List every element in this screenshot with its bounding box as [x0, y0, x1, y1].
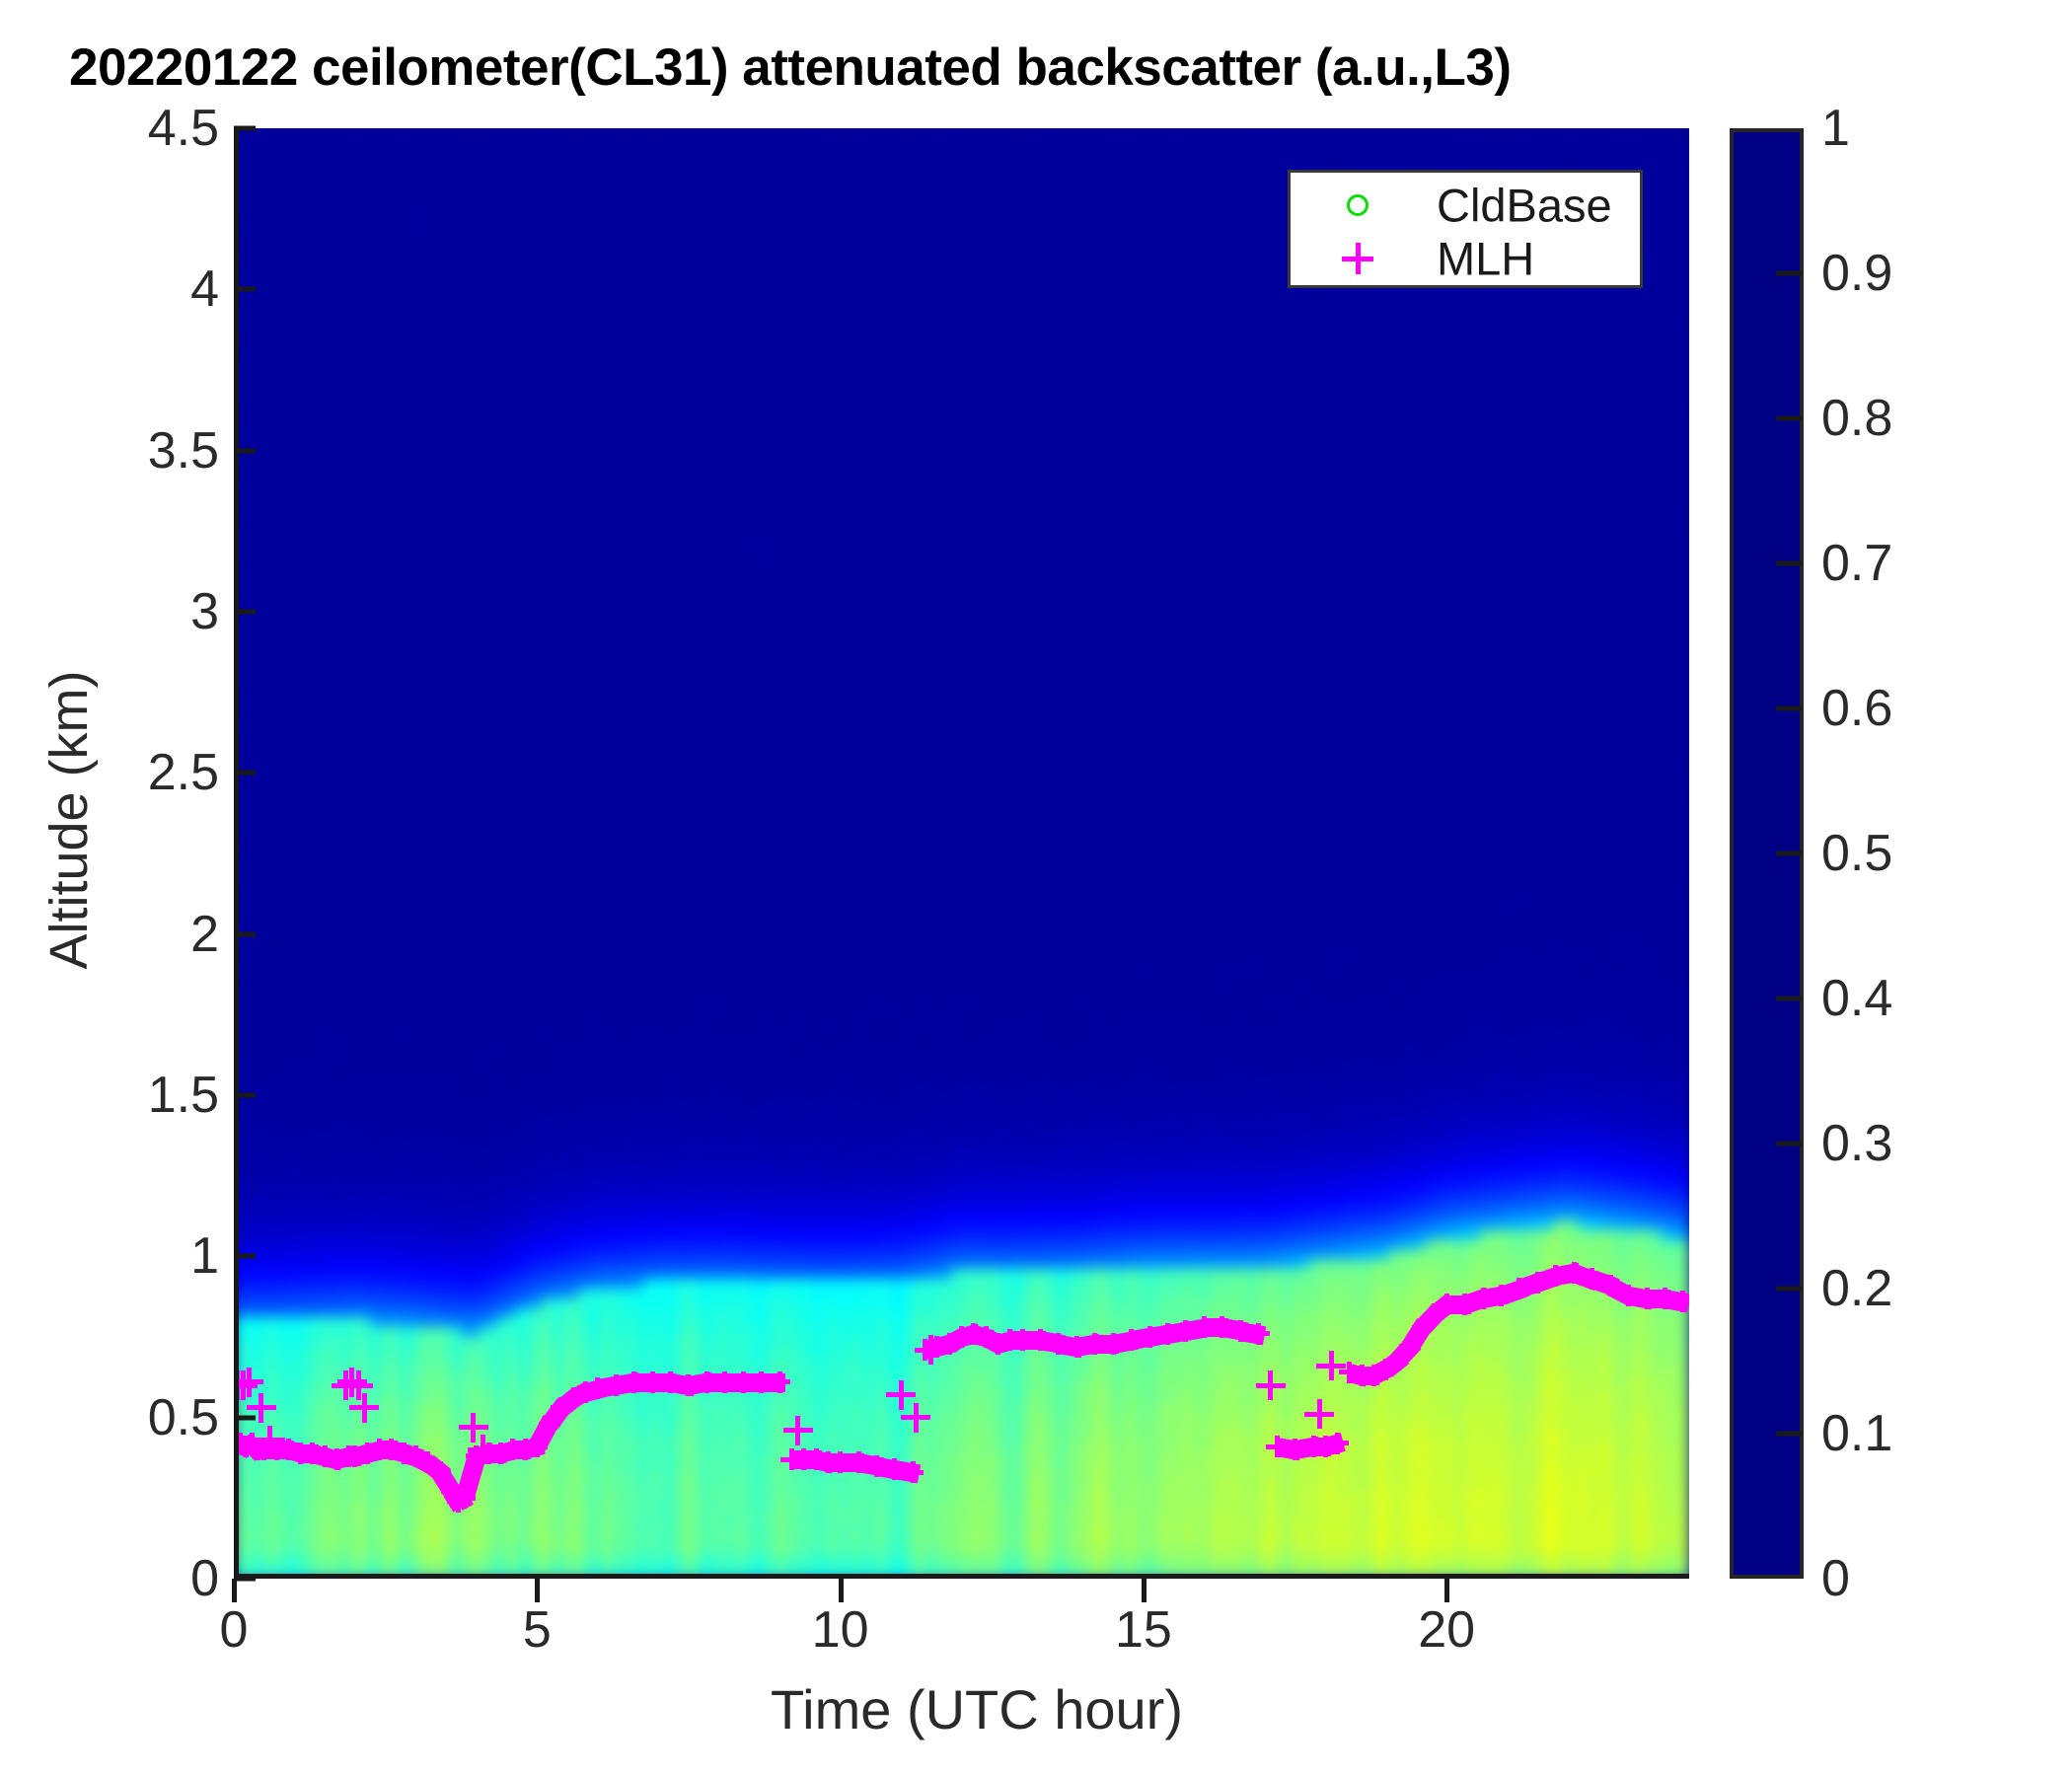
- colorbar-tick-label: 0.4: [1821, 969, 1892, 1028]
- y-axis-tick-mark: [234, 287, 256, 292]
- x-axis-tick-label: 5: [438, 1600, 635, 1660]
- x-axis-tick-mark: [1142, 1579, 1147, 1602]
- colorbar-tick-mark: [1776, 561, 1802, 566]
- colorbar-tick-label: 0.7: [1821, 534, 1892, 593]
- x-axis-tick-label: 15: [1045, 1600, 1242, 1660]
- colorbar-tick-mark: [1776, 1287, 1802, 1292]
- colorbar-tick-mark: [1776, 706, 1802, 711]
- y-axis-tick-label: 1.5: [22, 1066, 219, 1125]
- y-axis-tick-label: 4: [22, 259, 219, 319]
- legend-box[interactable]: CldBase MLH: [1288, 170, 1643, 288]
- x-axis-tick-label: 20: [1348, 1600, 1545, 1660]
- x-axis-tick-mark: [535, 1579, 540, 1602]
- colorbar-tick-label: 0.3: [1821, 1114, 1892, 1173]
- colorbar-tick-label: 0.6: [1821, 679, 1892, 738]
- y-axis-tick-mark: [234, 771, 256, 776]
- circle-marker-icon: [1338, 185, 1377, 225]
- y-axis-label: Altitude (km): [38, 593, 100, 1047]
- colorbar-tick-mark: [1776, 1432, 1802, 1437]
- x-axis-tick-mark: [839, 1579, 844, 1602]
- figure-canvas: 20220122 ceilometer(CL31) attenuated bac…: [0, 0, 2072, 1776]
- colorbar-tick-label: 0.8: [1821, 389, 1892, 448]
- colorbar-tick-mark: [1776, 1142, 1802, 1147]
- y-axis-tick-mark: [234, 1093, 256, 1098]
- plus-marker-icon: [1338, 239, 1377, 278]
- y-axis-tick-label: 0: [22, 1549, 219, 1608]
- y-axis-tick-mark: [234, 1415, 256, 1420]
- y-axis-tick-mark: [234, 1254, 256, 1259]
- x-axis-tick-label: 10: [742, 1600, 939, 1660]
- colorbar-tick-mark: [1776, 851, 1802, 856]
- y-axis-tick-label: 4.5: [22, 99, 219, 158]
- colorbar-tick-label: 0.5: [1821, 824, 1892, 883]
- legend-label-mlh: MLH: [1437, 232, 1534, 286]
- colorbar-tick-label: 1: [1821, 99, 1850, 158]
- colorbar-tick-mark: [1776, 997, 1802, 1001]
- y-axis-tick-label: 1: [22, 1226, 219, 1286]
- y-axis-tick-mark: [234, 448, 256, 453]
- legend-item-cldbase[interactable]: CldBase: [1291, 179, 1640, 232]
- x-axis-tick-mark: [232, 1579, 237, 1602]
- colorbar-tick-label: 0.2: [1821, 1259, 1892, 1318]
- colorbar-tick-label: 0: [1821, 1549, 1850, 1608]
- page-title: 20220122 ceilometer(CL31) attenuated bac…: [69, 37, 1512, 98]
- y-axis-tick-mark: [234, 610, 256, 615]
- legend-label-cldbase: CldBase: [1437, 179, 1612, 233]
- colorbar-tick-mark: [1776, 271, 1802, 276]
- y-axis-tick-mark: [234, 126, 256, 131]
- y-axis-tick-mark: [234, 1577, 256, 1582]
- x-axis-tick-mark: [1444, 1579, 1449, 1602]
- colorbar-tick-label: 0.1: [1821, 1404, 1892, 1463]
- colorbar-tick-label: 0.9: [1821, 244, 1892, 303]
- y-axis-tick-label: 0.5: [22, 1388, 219, 1447]
- backscatter-heatmap: [234, 128, 1689, 1579]
- colorbar-tick-mark: [1776, 416, 1802, 421]
- legend-item-mlh[interactable]: MLH: [1291, 232, 1640, 285]
- x-axis-tick-label: 0: [135, 1600, 333, 1660]
- x-axis-label: Time (UTC hour): [0, 1677, 1954, 1741]
- y-axis-tick-label: 3.5: [22, 421, 219, 481]
- y-axis-tick-mark: [234, 931, 256, 936]
- heatmap-plot-area[interactable]: [234, 128, 1689, 1579]
